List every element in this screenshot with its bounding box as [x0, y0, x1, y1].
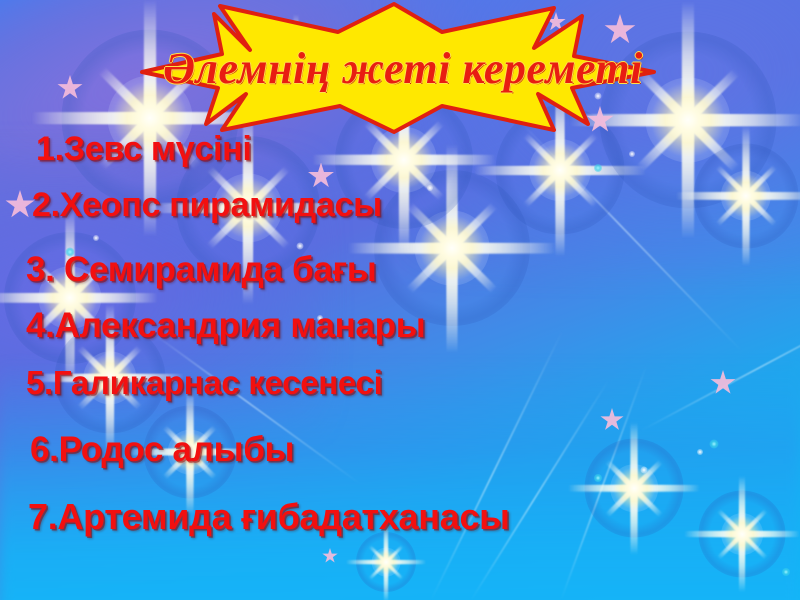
list-item: 3. Семирамида бағы: [26, 250, 376, 290]
presentation-slide: Әлемнің жеті кереметі 1.Зевс мүсіні2.Хео…: [0, 0, 800, 600]
list-item: 4.Александрия манары: [26, 306, 425, 346]
list-item: 6.Родос алыбы: [30, 430, 294, 470]
list-item: 2.Хеопс пирамидасы: [32, 186, 382, 225]
list-item: 7.Артемида ғибадатханасы: [28, 496, 510, 538]
list-item: 1.Зевс мүсіні: [36, 130, 251, 169]
list-item: 5.Галикарнас кесенесі: [26, 364, 382, 402]
wonders-list: 1.Зевс мүсіні2.Хеопс пирамидасы3. Семира…: [0, 0, 800, 600]
